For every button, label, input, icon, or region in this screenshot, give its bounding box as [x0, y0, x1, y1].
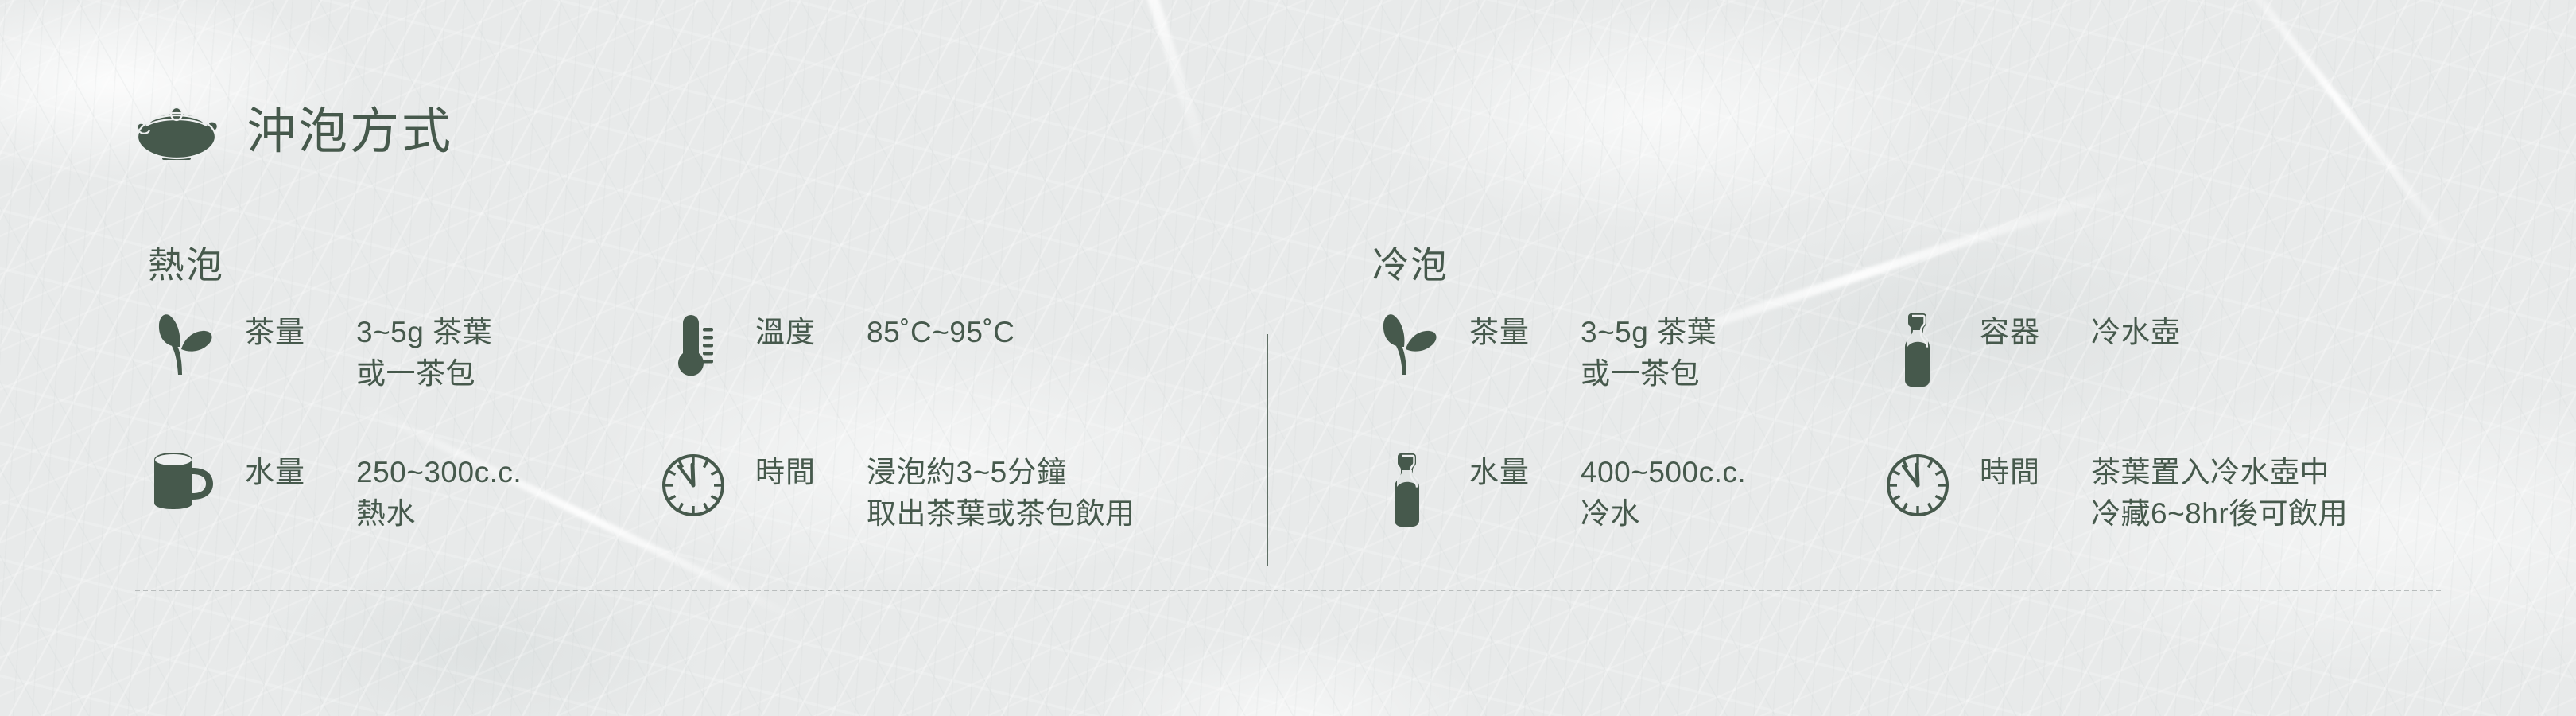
row-hot-time: 時間 浸泡約3~5分鐘 取出茶葉或茶包飲用	[652, 452, 1135, 535]
row-hot-tea-amount: 茶量 3~5g 茶葉 或一茶包	[142, 312, 492, 395]
row-cold-water-amount: 水量 400~500c.c. 冷水	[1366, 452, 1746, 535]
row-label: 容器	[1980, 312, 2040, 353]
row-value: 浸泡約3~5分鐘 取出茶葉或茶包飲用	[867, 452, 1135, 535]
section-title-hot: 熱泡	[148, 247, 224, 283]
row-cold-time: 時間 茶葉置入冷水壺中 冷藏6~8hr後可飲用	[1876, 452, 2348, 535]
row-value-line: 或一茶包	[1581, 357, 1700, 390]
row-value-line: 浸泡約3~5分鐘	[867, 456, 1067, 488]
row-text: 茶量 3~5g 茶葉 或一茶包	[245, 312, 492, 395]
teapot-icon	[134, 102, 219, 162]
row-value: 85˚C~95˚C	[867, 312, 1015, 353]
row-hot-temperature: 溫度 85˚C~95˚C	[652, 312, 1015, 382]
row-value-line: 茶葉置入冷水壺中	[2091, 456, 2330, 488]
row-value: 3~5g 茶葉 或一茶包	[356, 312, 492, 395]
row-hot-water-amount: 水量 250~300c.c. 熱水	[142, 452, 522, 535]
row-text: 時間 浸泡約3~5分鐘 取出茶葉或茶包飲用	[755, 452, 1135, 535]
marble-vein	[2207, 0, 2468, 265]
page-title: 沖泡方式	[246, 107, 453, 157]
row-value-line: 3~5g 茶葉	[1581, 316, 1717, 348]
tea-leaf-icon	[142, 312, 224, 376]
row-text: 溫度 85˚C~95˚C	[755, 312, 1015, 353]
row-value-line: 250~300c.c.	[356, 456, 522, 488]
mug-icon	[142, 452, 224, 511]
row-value-line: 取出茶葉或茶包飲用	[867, 497, 1135, 530]
clock-icon	[1876, 452, 1959, 519]
bottle-icon	[1366, 452, 1449, 528]
bottle-icon	[1876, 312, 1959, 388]
row-value-line: 3~5g 茶葉	[356, 316, 492, 348]
row-value-line: 冷藏6~8hr後可飲用	[2091, 497, 2348, 530]
tea-leaf-icon	[1366, 312, 1449, 376]
row-value-line: 或一茶包	[356, 357, 475, 390]
row-value-line: 熱水	[356, 497, 416, 530]
row-cold-tea-amount: 茶量 3~5g 茶葉 或一茶包	[1366, 312, 1717, 395]
row-text: 時間 茶葉置入冷水壺中 冷藏6~8hr後可飲用	[1980, 452, 2348, 535]
clock-icon	[652, 452, 735, 519]
marble-vein	[1076, 0, 1214, 172]
row-value-line: 冷水	[1581, 497, 1640, 530]
brewing-instructions-page: 沖泡方式 熱泡 冷泡 茶量 3~5g 茶葉 或一茶包	[0, 0, 2576, 716]
row-value-line: 冷水壺	[2091, 316, 2181, 348]
row-value-line: 400~500c.c.	[1581, 456, 1746, 488]
row-label: 水量	[1469, 452, 1530, 493]
row-value-line: 85˚C~95˚C	[867, 316, 1015, 348]
row-label: 茶量	[245, 312, 305, 353]
row-text: 水量 400~500c.c. 冷水	[1469, 452, 1746, 535]
row-label: 時間	[755, 452, 816, 493]
row-value: 250~300c.c. 熱水	[356, 452, 522, 535]
page-header: 沖泡方式	[134, 102, 453, 162]
row-cold-vessel: 容器 冷水壺	[1876, 312, 2181, 388]
row-label: 水量	[245, 452, 305, 493]
section-divider-vertical	[1267, 334, 1268, 566]
row-text: 茶量 3~5g 茶葉 或一茶包	[1469, 312, 1717, 395]
row-value: 茶葉置入冷水壺中 冷藏6~8hr後可飲用	[2091, 452, 2348, 535]
row-label: 茶量	[1469, 312, 1530, 353]
row-value: 400~500c.c. 冷水	[1581, 452, 1746, 535]
section-title-cold: 冷泡	[1372, 247, 1449, 283]
row-text: 水量 250~300c.c. 熱水	[245, 452, 522, 535]
row-value: 冷水壺	[2091, 312, 2181, 353]
row-label: 時間	[1980, 452, 2040, 493]
row-value: 3~5g 茶葉 或一茶包	[1581, 312, 1717, 395]
thermometer-icon	[652, 312, 735, 382]
row-text: 容器 冷水壺	[1980, 312, 2181, 353]
row-label: 溫度	[755, 312, 816, 353]
section-divider-dashed	[135, 590, 2441, 591]
